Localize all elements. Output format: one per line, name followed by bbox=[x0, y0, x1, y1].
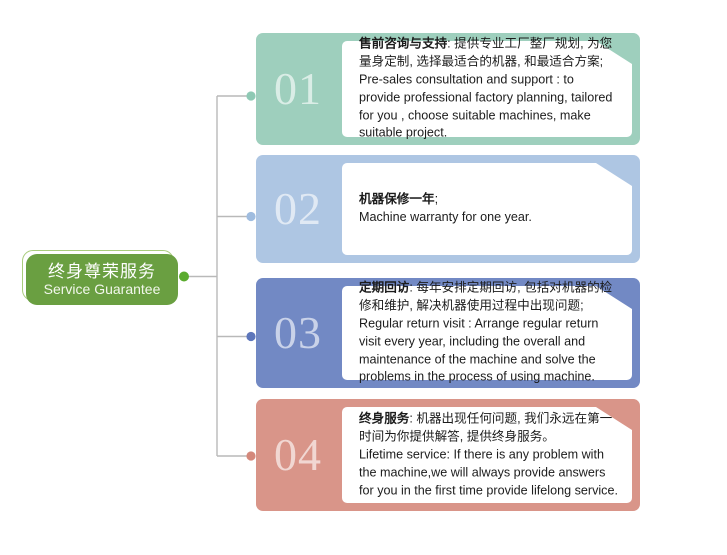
badge-title-cn: 终身尊荣服务 bbox=[48, 262, 156, 282]
service-card-1: 01 售前咨询与支持: 提供专业工厂整厂规划, 为您量身定制, 选择最适合的机器… bbox=[256, 33, 640, 145]
card-text-cn-4: 终身服务: 机器出现任何问题, 我们永远在第一时间为你提供解答, 提供终身服务。 bbox=[359, 411, 612, 443]
connector-dot-4 bbox=[246, 451, 255, 460]
service-guarantee-badge: 终身尊荣服务 Service Guarantee bbox=[22, 250, 178, 305]
connector-hub-dot bbox=[179, 272, 189, 282]
card-text-cn-1: 售前咨询与支持: 提供专业工厂整厂规划, 为您量身定制, 选择最适合的机器, 和… bbox=[359, 36, 612, 68]
card-heading-cn-2: 机器保修一年 bbox=[359, 192, 435, 206]
connector-dot-3 bbox=[246, 332, 255, 341]
connector-dot-2 bbox=[246, 212, 255, 221]
card-heading-cn-4: 终身服务 bbox=[359, 411, 409, 425]
card-text-en-2: Machine warranty for one year. bbox=[359, 209, 618, 227]
service-card-2: 02 机器保修一年; Machine warranty for one year… bbox=[256, 155, 640, 263]
card-number-3: 03 bbox=[274, 310, 322, 356]
badge-title-en: Service Guarantee bbox=[44, 281, 161, 297]
card-text-en-3: Regular return visit : Arrange regular r… bbox=[359, 315, 618, 387]
card-panel-4: 终身服务: 机器出现任何问题, 我们永远在第一时间为你提供解答, 提供终身服务。… bbox=[342, 407, 632, 503]
card-number-1: 01 bbox=[274, 66, 322, 112]
card-text-en-1: Pre-sales consultation and support : to … bbox=[359, 71, 618, 143]
card-text-en-4: Lifetime service: If there is any proble… bbox=[359, 446, 618, 500]
badge-fill: 终身尊荣服务 Service Guarantee bbox=[26, 254, 178, 305]
service-card-4: 04 终身服务: 机器出现任何问题, 我们永远在第一时间为你提供解答, 提供终身… bbox=[256, 399, 640, 511]
infographic-canvas: 终身尊荣服务 Service Guarantee 01 售前咨询与支持: 提供专… bbox=[0, 0, 727, 555]
card-panel-1: 售前咨询与支持: 提供专业工厂整厂规划, 为您量身定制, 选择最适合的机器, 和… bbox=[342, 41, 632, 137]
speech-bubble-notch-icon bbox=[596, 163, 632, 186]
card-panel-3: 定期回访: 每年安排定期回访, 包括对机器的检修和维护, 解决机器使用过程中出现… bbox=[342, 286, 632, 380]
card-text-cn-2: 机器保修一年; bbox=[359, 192, 438, 206]
card-text-cn-3: 定期回访: 每年安排定期回访, 包括对机器的检修和维护, 解决机器使用过程中出现… bbox=[359, 280, 612, 312]
card-number-2: 02 bbox=[274, 186, 322, 232]
card-panel-2: 机器保修一年; Machine warranty for one year. bbox=[342, 163, 632, 255]
card-body-cn-2: ; bbox=[435, 192, 439, 206]
card-heading-cn-1: 售前咨询与支持 bbox=[359, 36, 447, 50]
service-card-3: 03 定期回访: 每年安排定期回访, 包括对机器的检修和维护, 解决机器使用过程… bbox=[256, 278, 640, 388]
card-number-4: 04 bbox=[274, 432, 322, 478]
connector-dot-1 bbox=[246, 91, 255, 100]
card-heading-cn-3: 定期回访 bbox=[359, 280, 409, 294]
